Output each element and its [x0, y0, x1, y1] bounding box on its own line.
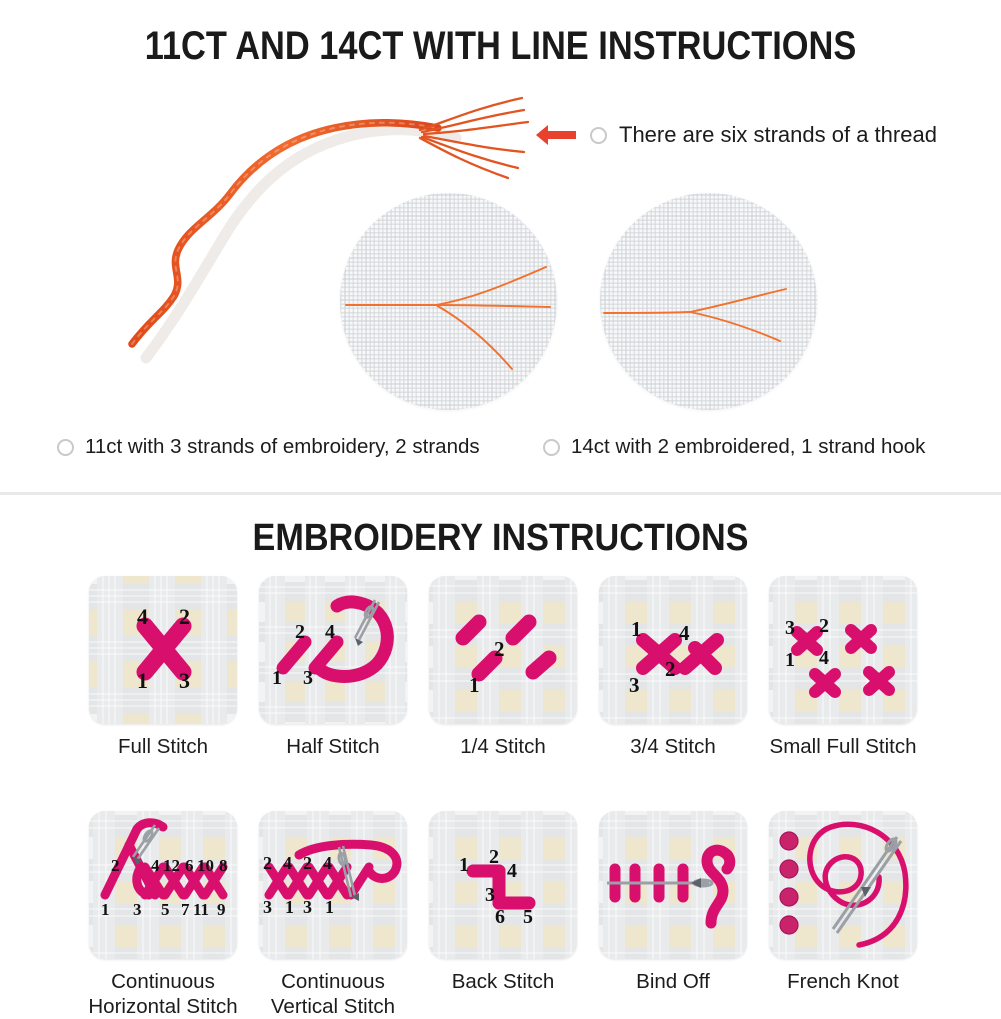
caption-11ct: 11ct with 3 strands of embroidery, 2 str… — [57, 435, 480, 459]
circle-bullet-icon — [543, 439, 560, 456]
stitch-label: Full Stitch — [118, 734, 208, 759]
circle-bullet-icon — [57, 439, 74, 456]
stitch-card-continuous-vertical-stitch[interactable]: 2424 3131 Continuous Vertical Stitch — [248, 811, 418, 1019]
svg-text:3: 3 — [485, 884, 495, 906]
stitch-card-small-full-stitch[interactable]: 32 14 Small Full Stitch — [758, 576, 928, 759]
svg-text:1: 1 — [325, 897, 334, 917]
arrow-left-icon — [534, 122, 578, 148]
svg-text:3: 3 — [629, 673, 640, 697]
stitch-diagram-three-quarter-stitch: 14 23 — [599, 576, 747, 724]
stitch-diagram-quarter-stitch: 2 1 — [429, 576, 577, 724]
grid-row-spacer — [78, 759, 248, 811]
stitch-card-continuous-horizontal-stitch[interactable]: 2412 6108 135 7119 Continuous Horizontal… — [78, 811, 248, 1019]
stitch-diagram-small-full-stitch: 32 14 — [769, 576, 917, 724]
svg-text:2: 2 — [819, 615, 829, 637]
stitch-diagram-french-knot — [769, 811, 917, 959]
stitch-card-french-knot[interactable]: French Knot — [758, 811, 928, 1019]
svg-text:3: 3 — [179, 668, 190, 693]
svg-text:6: 6 — [185, 856, 194, 875]
svg-text:1: 1 — [785, 649, 795, 671]
svg-text:3: 3 — [303, 667, 313, 689]
svg-text:4: 4 — [679, 621, 690, 645]
grid-row-spacer — [248, 759, 418, 811]
stitch-label: French Knot — [787, 969, 899, 994]
stitch-label: 3/4 Stitch — [630, 734, 715, 759]
stitch-card-half-stitch[interactable]: 24 13 Half Stitch — [248, 576, 418, 759]
stitch-label: Continuous Horizontal Stitch — [88, 969, 237, 1019]
svg-text:4: 4 — [151, 856, 160, 875]
section-divider — [0, 492, 1001, 495]
svg-text:3: 3 — [263, 897, 272, 917]
svg-text:6: 6 — [495, 906, 505, 928]
svg-text:3: 3 — [785, 617, 795, 639]
svg-text:4: 4 — [819, 647, 829, 669]
section-thread-instructions: 11CT AND 14CT WITH LINE INSTRUCTIONS — [0, 0, 1001, 492]
svg-text:5: 5 — [161, 900, 170, 919]
svg-text:2: 2 — [494, 637, 505, 661]
svg-text:8: 8 — [219, 856, 228, 875]
instruction-sheet: 11CT AND 14CT WITH LINE INSTRUCTIONS — [0, 0, 1001, 1001]
stitch-label: Small Full Stitch — [770, 734, 917, 759]
svg-text:2: 2 — [489, 846, 499, 868]
stitch-card-three-quarter-stitch[interactable]: 14 23 3/4 Stitch — [588, 576, 758, 759]
stitch-label: 1/4 Stitch — [460, 734, 545, 759]
caption-11ct-text: 11ct with 3 strands of embroidery, 2 str… — [85, 435, 480, 459]
svg-text:5: 5 — [523, 906, 533, 928]
page-title: 11CT AND 14CT WITH LINE INSTRUCTIONS — [70, 24, 931, 69]
svg-text:3: 3 — [303, 897, 312, 917]
thread-note-text: There are six strands of a thread — [619, 122, 937, 148]
svg-text:1: 1 — [469, 673, 480, 697]
stitch-diagram-continuous-horizontal-stitch: 2412 6108 135 7119 — [89, 811, 237, 959]
svg-text:2: 2 — [665, 657, 676, 681]
svg-text:2: 2 — [263, 853, 272, 873]
svg-text:1: 1 — [101, 900, 110, 919]
svg-text:2: 2 — [111, 856, 120, 875]
fabric-swatch-11ct — [340, 193, 557, 410]
svg-text:9: 9 — [217, 900, 226, 919]
svg-text:4: 4 — [325, 621, 335, 643]
stitch-card-back-stitch[interactable]: 124 365 Back Stitch — [418, 811, 588, 1019]
svg-text:4: 4 — [283, 853, 292, 873]
svg-text:1: 1 — [137, 668, 148, 693]
stitch-card-full-stitch[interactable]: 42 13 Full Stitch — [78, 576, 248, 759]
stitch-diagram-bind-off — [599, 811, 747, 959]
caption-14ct-text: 14ct with 2 embroidered, 1 strand hook — [571, 435, 925, 459]
grid-row-spacer — [588, 759, 758, 811]
svg-text:1: 1 — [631, 617, 642, 641]
fabric-swatch-14ct — [600, 193, 817, 410]
caption-14ct: 14ct with 2 embroidered, 1 strand hook — [543, 435, 925, 459]
svg-text:2: 2 — [179, 604, 190, 629]
svg-text:2: 2 — [303, 853, 312, 873]
stitch-card-quarter-stitch[interactable]: 2 1 1/4 Stitch — [418, 576, 588, 759]
grid-row-spacer — [758, 759, 928, 811]
stitch-diagram-full-stitch: 42 13 — [89, 576, 237, 724]
section-title-embroidery: EMBROIDERY INSTRUCTIONS — [50, 517, 951, 560]
thread-note: There are six strands of a thread — [534, 122, 937, 148]
svg-text:1: 1 — [459, 854, 469, 876]
svg-text:12: 12 — [163, 856, 180, 875]
svg-text:1: 1 — [285, 897, 294, 917]
stitch-diagram-half-stitch: 24 13 — [259, 576, 407, 724]
stitch-label: Continuous Vertical Stitch — [271, 969, 395, 1019]
stitch-grid: 42 13 Full Stitch — [78, 576, 930, 1019]
circle-bullet-icon — [590, 127, 607, 144]
stitch-label: Half Stitch — [286, 734, 379, 759]
stitch-card-bind-off[interactable]: Bind Off — [588, 811, 758, 1019]
svg-text:10: 10 — [197, 856, 214, 875]
svg-text:4: 4 — [323, 853, 332, 873]
svg-text:4: 4 — [137, 604, 148, 629]
stitch-label: Bind Off — [636, 969, 710, 994]
stitch-diagram-continuous-vertical-stitch: 2424 3131 — [259, 811, 407, 959]
svg-text:2: 2 — [295, 621, 305, 643]
svg-text:7: 7 — [181, 900, 190, 919]
svg-text:4: 4 — [507, 860, 517, 882]
grid-row-spacer — [418, 759, 588, 811]
svg-text:11: 11 — [193, 900, 209, 919]
svg-text:3: 3 — [133, 900, 142, 919]
stitch-label: Back Stitch — [452, 969, 555, 994]
stitch-diagram-back-stitch: 124 365 — [429, 811, 577, 959]
svg-text:1: 1 — [272, 667, 282, 689]
